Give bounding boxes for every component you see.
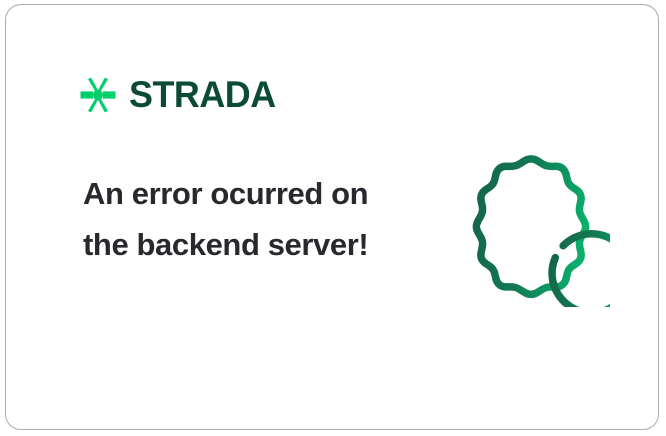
gear-icon [452,149,610,307]
strada-asterisk-icon [80,77,116,113]
brand-wordmark: STRADA [129,76,276,113]
error-card: STRADA An error ocurred on the backend s… [5,4,659,430]
brand-logo: STRADA [80,76,280,113]
error-message: An error ocurred on the backend server! [83,168,383,270]
error-screen: STRADA An error ocurred on the backend s… [0,0,666,436]
